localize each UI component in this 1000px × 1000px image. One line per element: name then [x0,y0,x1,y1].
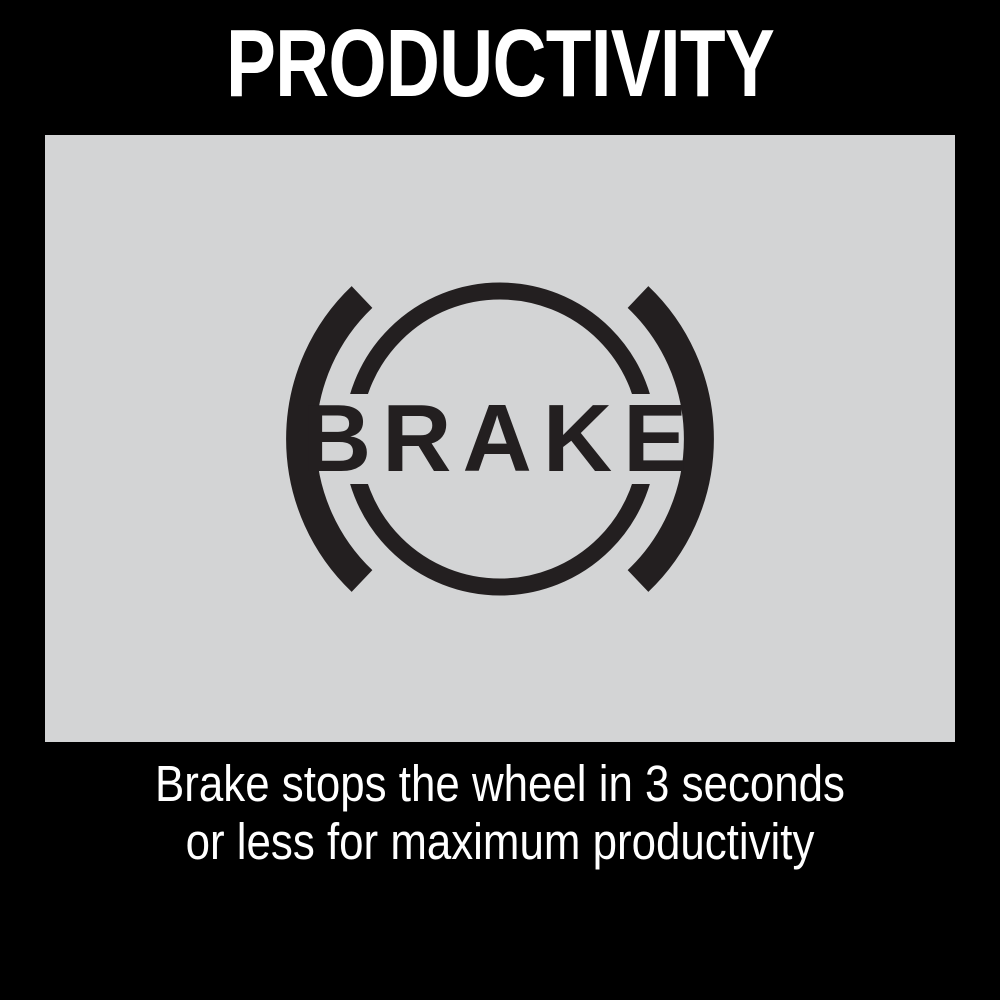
product-feature-card: PRODUCTIVITY [0,0,1000,1000]
brake-icon-graphic: BRAKE [250,249,750,629]
caption-line-2: or less for maximum productivity [70,813,930,871]
caption: Brake stops the wheel in 3 seconds or le… [0,755,1000,871]
page-title: PRODUCTIVITY [110,16,890,112]
brake-label: BRAKE [302,385,698,492]
caption-line-1: Brake stops the wheel in 3 seconds [70,755,930,813]
brake-warning-icon: BRAKE [45,135,955,742]
image-panel: BRAKE [45,135,955,742]
